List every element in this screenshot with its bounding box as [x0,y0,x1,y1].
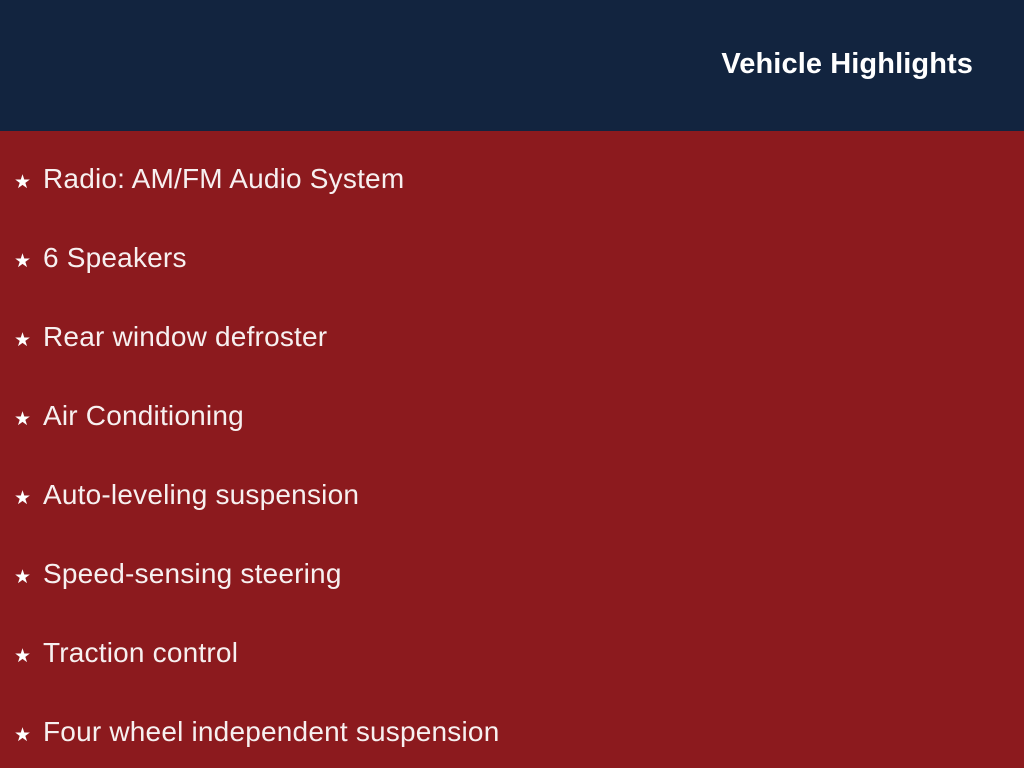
list-item: ★ Traction control [0,639,1024,718]
star-icon: ★ [14,726,43,745]
list-item: ★ Four wheel independent suspension [0,718,1024,768]
star-icon: ★ [14,489,43,508]
list-item: ★ Auto-leveling suspension [0,481,1024,560]
list-item: ★ Speed-sensing steering [0,560,1024,639]
star-icon: ★ [14,173,43,192]
list-item-label: Traction control [43,639,238,667]
list-item-label: Air Conditioning [43,402,244,430]
list-item-label: Auto-leveling suspension [43,481,359,509]
list-item: ★ Radio: AM/FM Audio System [0,131,1024,244]
star-icon: ★ [14,568,43,587]
list-item-label: Speed-sensing steering [43,560,342,588]
body-area: ★ Radio: AM/FM Audio System ★ 6 Speakers… [0,131,1024,768]
list-item: ★ 6 Speakers [0,244,1024,323]
list-item: ★ Air Conditioning [0,402,1024,481]
star-icon: ★ [14,331,43,350]
header-band: Vehicle Highlights [0,0,1024,131]
list-item-label: Radio: AM/FM Audio System [43,165,404,193]
vehicle-highlights-list: ★ Radio: AM/FM Audio System ★ 6 Speakers… [0,131,1024,768]
star-icon: ★ [14,252,43,271]
star-icon: ★ [14,410,43,429]
slide: Vehicle Highlights ★ Radio: AM/FM Audio … [0,0,1024,768]
page-title: Vehicle Highlights [721,47,973,81]
list-item: ★ Rear window defroster [0,323,1024,402]
list-item-label: Rear window defroster [43,323,327,351]
star-icon: ★ [14,647,43,666]
list-item-label: Four wheel independent suspension [43,718,499,746]
list-item-label: 6 Speakers [43,244,187,272]
